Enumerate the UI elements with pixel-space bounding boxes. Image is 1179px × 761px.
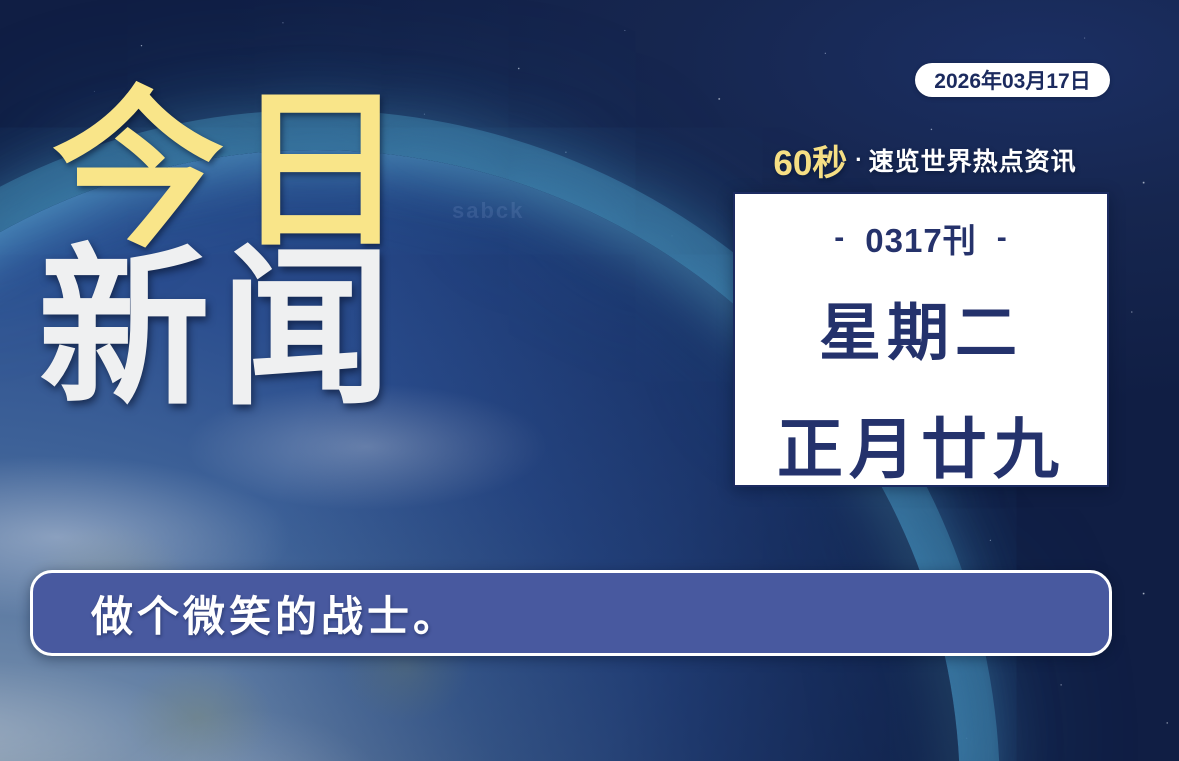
title-line-news: 新闻 xyxy=(38,250,416,408)
tagline-description: 速览世界热点资讯 xyxy=(869,142,1077,178)
title-line-today: 今日 xyxy=(52,92,416,250)
date-info-card: - 0317刊 - 星期二 正月廿九 xyxy=(733,192,1109,487)
motto-bar: 做个微笑的战士。 xyxy=(30,570,1112,656)
issue-row: - 0317刊 - xyxy=(834,214,1007,262)
motto-text: 做个微笑的战士。 xyxy=(91,583,459,644)
tagline-seconds: 60秒 xyxy=(773,135,847,186)
poster-title: 今日 新闻 xyxy=(52,92,416,408)
tagline-separator: · xyxy=(855,147,862,173)
issue-number: 0317刊 xyxy=(865,214,976,262)
weekday-label: 星期二 xyxy=(819,282,1023,372)
issue-dash-right: - xyxy=(997,221,1008,255)
lunar-date-label: 正月廿九 xyxy=(777,396,1065,492)
news-poster: sabck 今日 新闻 2026年03月17日 60秒 · 速览世界热点资讯 -… xyxy=(0,0,1179,761)
date-badge: 2026年03月17日 xyxy=(915,63,1110,97)
tagline: 60秒 · 速览世界热点资讯 xyxy=(740,140,1110,180)
issue-dash-left: - xyxy=(834,221,845,255)
background-watermark: sabck xyxy=(452,198,524,224)
date-badge-label: 2026年03月17日 xyxy=(934,65,1090,95)
